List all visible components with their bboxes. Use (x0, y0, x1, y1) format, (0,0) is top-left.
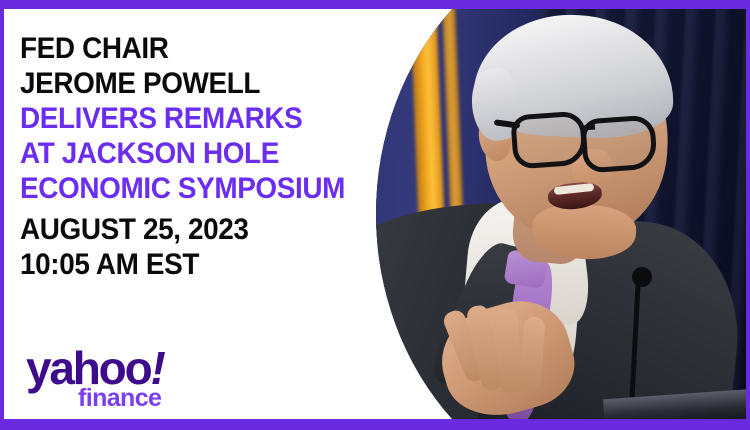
eyeglasses-right-lens (580, 114, 658, 173)
event-date: AUGUST 25, 2023 (20, 212, 373, 247)
yahoo-finance-logo: yahoo! finance (26, 345, 206, 411)
powell-photo (346, 9, 746, 419)
headline-line-3: DELIVERS REMARKS (20, 101, 373, 136)
headline-line-1: FED CHAIR (20, 31, 373, 66)
finance-subbrand: finance (78, 385, 206, 411)
eyeglasses-left-lens (510, 110, 588, 169)
headline-block: FED CHAIR JEROME POWELL DELIVERS REMARKS… (20, 31, 400, 282)
headline-line-5: ECONOMIC SYMPOSIUM (20, 171, 373, 206)
headline-line-2: JEROME POWELL (20, 66, 373, 101)
event-time: 10:05 AM EST (20, 247, 373, 282)
photo-canvas (346, 9, 746, 419)
card-stage: FED CHAIR JEROME POWELL DELIVERS REMARKS… (4, 9, 746, 419)
microphone-icon (632, 267, 652, 287)
headline-line-4: AT JACKSON HOLE (20, 136, 373, 171)
eyeglasses-bridge (583, 124, 595, 130)
video-thumbnail-card: FED CHAIR JEROME POWELL DELIVERS REMARKS… (0, 0, 750, 430)
